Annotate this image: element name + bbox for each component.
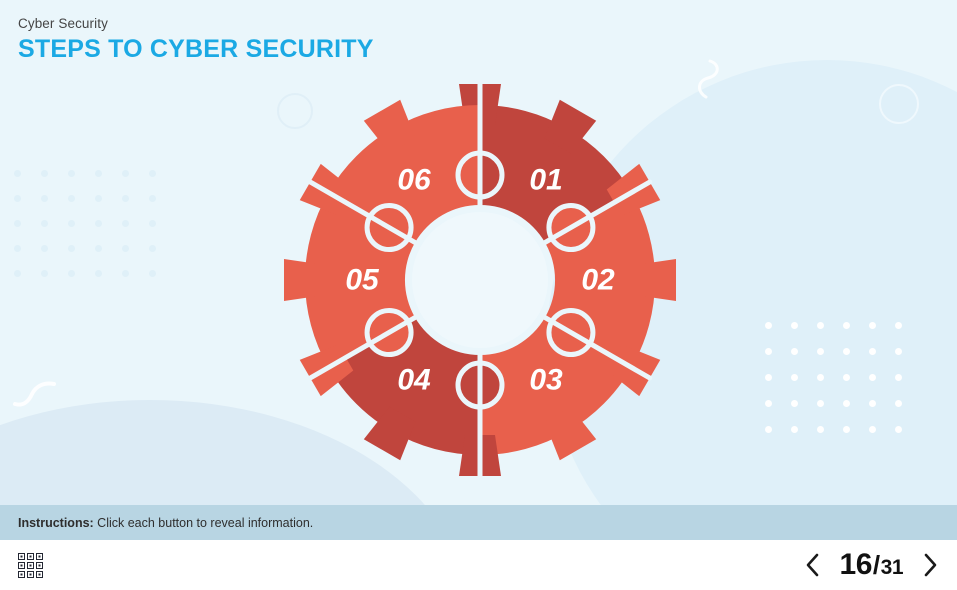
grid-menu-button[interactable] — [14, 549, 46, 581]
gear-center-hole — [412, 212, 548, 348]
gear-segment-05-label: 05 — [345, 264, 380, 297]
gear-segment-03-label: 03 — [529, 364, 563, 397]
instructions-body: Click each button to reveal information. — [94, 516, 314, 530]
gear-segment-02-label: 02 — [581, 264, 615, 297]
gear-segment-06-label: 06 — [397, 164, 431, 197]
page-separator: / — [873, 550, 880, 581]
chevron-left-icon — [804, 552, 821, 578]
page-total: 31 — [881, 556, 903, 580]
decorative-circle-outline — [879, 84, 919, 124]
grid-menu-icon — [18, 553, 43, 578]
decorative-squiggle-icon — [10, 380, 58, 416]
gear-segment-01-label: 01 — [529, 164, 562, 197]
page-current: 16 — [840, 548, 872, 582]
previous-slide-button[interactable] — [800, 549, 826, 581]
decorative-squiggle-icon — [690, 58, 726, 100]
page-title: STEPS TO CYBER SECURITY — [18, 35, 374, 64]
next-slide-button[interactable] — [917, 549, 943, 581]
dot-grid-right — [765, 322, 895, 422]
slide-header: Cyber Security STEPS TO CYBER SECURITY — [18, 16, 374, 64]
gear-segment-04-label: 04 — [397, 364, 431, 397]
slide-footer: 16 / 31 — [0, 540, 957, 590]
instructions-text: Instructions: Click each button to revea… — [0, 516, 313, 530]
instructions-label: Instructions: — [18, 516, 94, 530]
six-step-puzzle-gear: 01 02 03 04 05 06 — [279, 79, 681, 481]
slide-canvas: Cyber Security STEPS TO CYBER SECURITY — [0, 0, 957, 590]
page-indicator: 16 / 31 — [840, 548, 903, 582]
dot-grid-left — [14, 170, 164, 280]
chevron-right-icon — [922, 552, 939, 578]
course-name: Cyber Security — [18, 16, 374, 31]
slide-navigation: 16 / 31 — [800, 540, 943, 590]
instructions-bar: Instructions: Click each button to revea… — [0, 505, 957, 540]
